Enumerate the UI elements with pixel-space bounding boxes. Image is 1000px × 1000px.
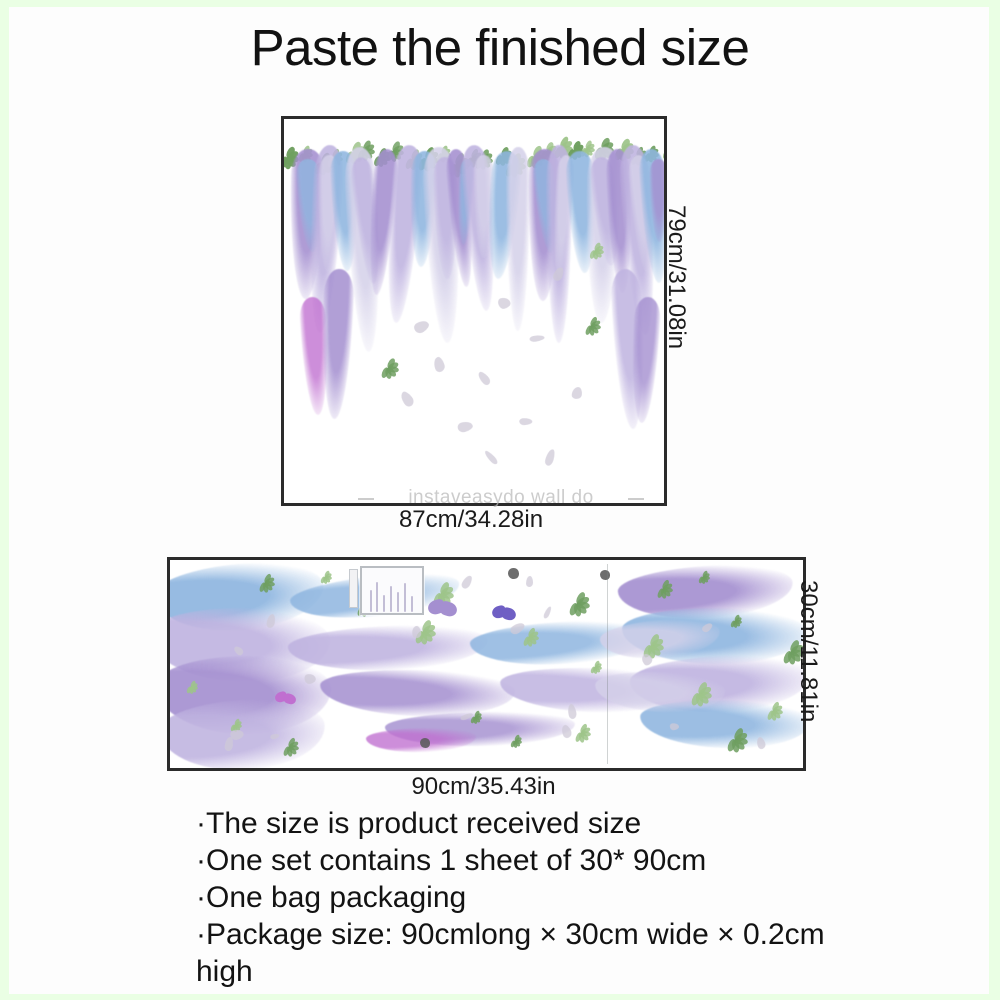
note-line: ·One set contains 1 sheet of 30* 90cm [196,842,836,879]
watermark: instaveasydo wall do [370,487,632,509]
falling-petal [497,296,511,309]
wisteria-sheet-artwork [170,560,803,768]
wisteria-wall-artwork [284,119,664,503]
snail-accent [508,568,519,579]
falling-petal [398,390,416,409]
leaf-sprig [590,660,608,674]
leaf-sprig [574,722,600,743]
leaf-sprig [282,736,308,757]
wall-height-label: 79cm/31.08in [662,205,690,349]
leaf-sprig [698,570,716,584]
falling-petal [571,386,582,399]
mini-frame-edge [349,569,358,608]
leaf-sprig [320,570,338,584]
falling-petal [542,605,552,619]
falling-petal [460,574,473,590]
falling-petal [483,449,499,465]
falling-petal [544,448,557,467]
leaf-sprig [588,241,612,260]
leaf-sprig [380,357,408,379]
top-edge-band [0,0,1000,7]
falling-petal [519,418,533,426]
leaf-sprig [568,590,602,617]
finished-wall-preview-panel [281,116,667,506]
leaf-sprig [186,680,204,694]
page-title: Paste the finished size [0,18,1000,77]
wall-width-label: 87cm/34.28in [281,506,661,534]
falling-petal [476,370,492,386]
framed-decal-preview [360,566,424,615]
falling-petal [456,420,474,434]
sticker-sheet-panel [167,557,806,771]
right-edge-band [989,0,1000,1000]
product-notes: ·The size is product received size ·One … [196,805,836,990]
wisteria-spray [170,697,326,768]
falling-petal [526,576,534,588]
leaf-sprig [690,680,724,707]
leaf-sprig [656,578,682,599]
snail-accent [600,570,610,580]
sheet-width-label: 90cm/35.43in [167,773,800,801]
falling-petal [432,356,446,373]
note-line: ·One bag packaging [196,879,836,916]
note-line: ·Package size: 90cmlong × 30cm wide × 0.… [196,916,836,990]
leaf-sprig [470,710,488,724]
leaf-sprig [584,315,610,336]
butterfly-icon [275,692,299,704]
leaf-sprig [522,626,548,647]
sheet-divider [607,564,608,764]
leaf-sprig [726,726,760,753]
leaf-sprig [730,614,748,628]
sheet-height-label: 30cm/11.81in [794,580,822,722]
leaf-sprig [258,572,284,593]
leaf-sprig [510,734,528,748]
note-line: ·The size is product received size [196,805,836,842]
leaf-sprig [766,700,792,721]
butterfly-icon [492,606,520,620]
butterfly-icon [428,600,462,617]
snail-accent [420,738,430,748]
falling-petal [412,318,431,335]
bottom-edge-band [0,994,1000,1000]
falling-petal [529,334,545,343]
left-edge-band [0,0,9,1000]
